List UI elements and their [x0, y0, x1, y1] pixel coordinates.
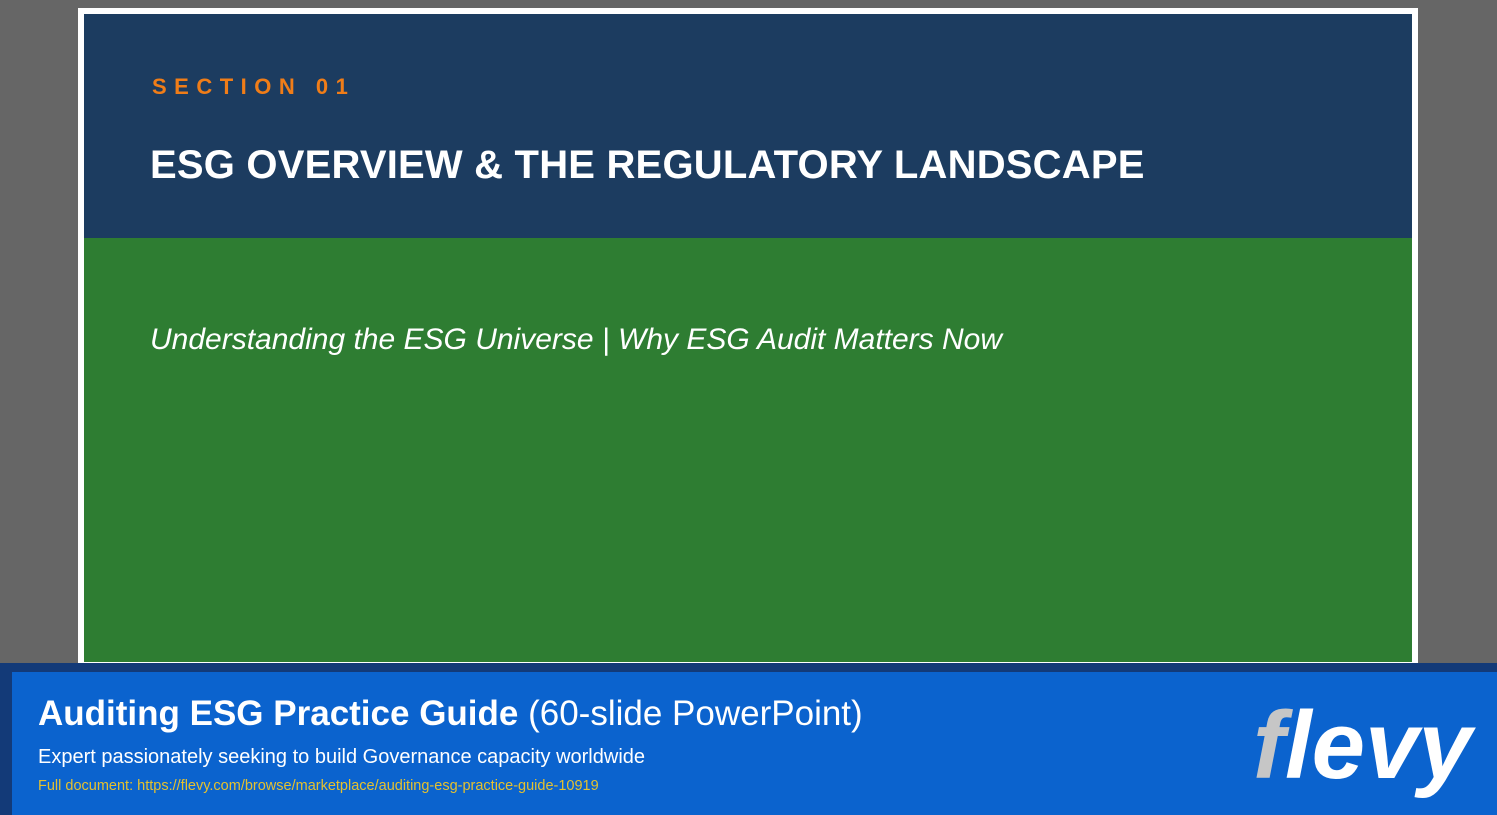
document-title: Auditing ESG Practice Guide (60-slide Po…	[38, 694, 863, 733]
slide-frame: SECTION 01 ESG OVERVIEW & THE REGULATORY…	[78, 8, 1418, 668]
slide-subtitle: Understanding the ESG Universe | Why ESG…	[150, 322, 1002, 358]
document-title-name: Auditing ESG Practice Guide	[38, 694, 518, 733]
section-label: SECTION 01	[152, 76, 355, 98]
flevy-logo[interactable]: f levy	[1247, 686, 1479, 798]
marketing-banner-text: Auditing ESG Practice Guide (60-slide Po…	[38, 694, 863, 796]
slide-backdrop: SECTION 01 ESG OVERVIEW & THE REGULATORY…	[0, 0, 1497, 815]
slide-header-band: SECTION 01 ESG OVERVIEW & THE REGULATORY…	[84, 14, 1412, 238]
marketing-banner: Auditing ESG Practice Guide (60-slide Po…	[0, 663, 1497, 815]
document-title-format: (60-slide PowerPoint)	[518, 694, 862, 733]
document-url-line[interactable]: Full document: https://flevy.com/browse/…	[38, 778, 863, 795]
document-url[interactable]: https://flevy.com/browse/marketplace/aud…	[137, 778, 599, 794]
flevy-logo-levy-glyphs: levy	[1285, 692, 1476, 798]
document-tagline: Expert passionately seeking to build Gov…	[38, 745, 863, 769]
marketing-banner-panel: Auditing ESG Practice Guide (60-slide Po…	[12, 672, 1497, 815]
slide-title: ESG OVERVIEW & THE REGULATORY LANDSCAPE	[150, 142, 1145, 188]
document-url-prefix: Full document:	[38, 778, 137, 794]
slide-body-band: Understanding the ESG Universe | Why ESG…	[84, 238, 1412, 662]
slide-canvas: SECTION 01 ESG OVERVIEW & THE REGULATORY…	[84, 14, 1412, 662]
